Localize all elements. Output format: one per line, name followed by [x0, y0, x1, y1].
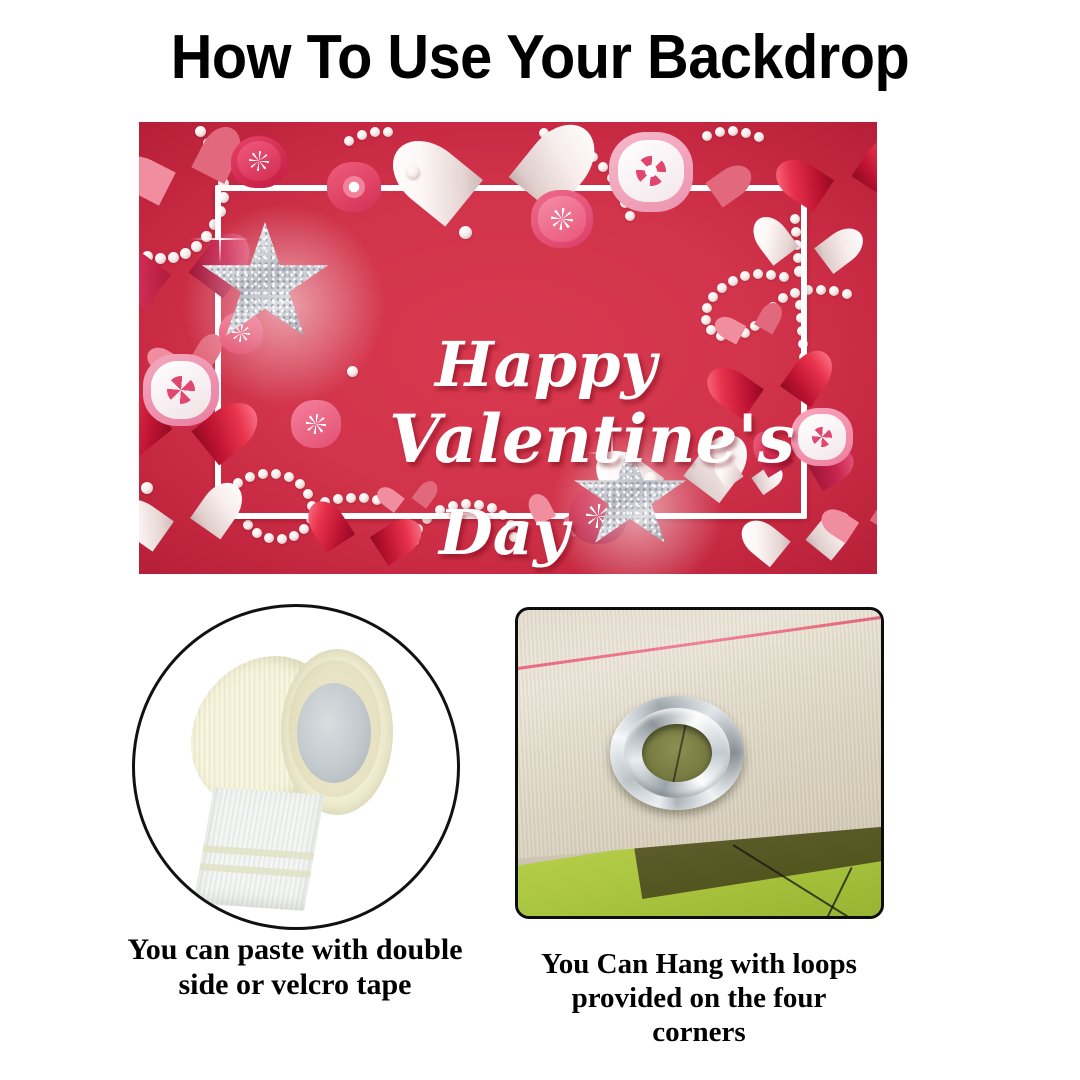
tape-roll-image: [132, 604, 460, 930]
caption-tape-line-2: side or velcro tape: [95, 967, 495, 1002]
flower-red-topleft: [231, 136, 287, 188]
heart-white-right: [771, 218, 840, 284]
filament-tape-roll: [191, 649, 387, 817]
heart-white-leftbottom: [142, 484, 224, 562]
caption-tape-line-1: You can paste with double: [95, 932, 495, 967]
pearl-dot-1: [407, 166, 420, 179]
page-title: How To Use Your Backdrop: [38, 22, 1042, 93]
flower-white-left: [143, 354, 219, 426]
infographic-page: How To Use Your Backdrop: [0, 0, 1080, 1080]
heart-pink-bottom: [389, 482, 427, 518]
tape-strip-tail: [193, 787, 324, 911]
grommet-hole: [642, 724, 712, 782]
flower-pink-topmid: [327, 162, 381, 212]
heart-deep-left: [139, 235, 226, 322]
pearl-dot-2: [459, 226, 472, 239]
caption-grommet-line-1: You Can Hang with loops: [508, 948, 890, 982]
metal-grommet: [610, 696, 744, 810]
heart-red-bottomleft: [323, 504, 400, 574]
caption-grommet-line-3: corners: [508, 1016, 890, 1050]
flower-pink-rightbottom: [791, 408, 853, 466]
caption-grommet: You Can Hang with loops provided on the …: [508, 948, 890, 1050]
pearl-dot-3: [347, 366, 358, 377]
heart-red-topright: [801, 141, 877, 223]
grommet-image: [515, 607, 884, 919]
flower-pink-bottomleft: [291, 400, 341, 448]
pearl-dot-5: [141, 482, 153, 494]
flower-white-topright: [609, 132, 693, 212]
valentines-backdrop-image: Happy Valentine's Day: [139, 122, 877, 574]
sparkle-left-v: [219, 212, 221, 264]
caption-tape: You can paste with double side or velcro…: [95, 932, 495, 1002]
flower-pink-centertop: [531, 190, 593, 248]
caption-grommet-line-2: provided on the four: [508, 982, 890, 1016]
tape-roll-core: [297, 683, 371, 783]
sparkle-right-v: [611, 428, 613, 474]
